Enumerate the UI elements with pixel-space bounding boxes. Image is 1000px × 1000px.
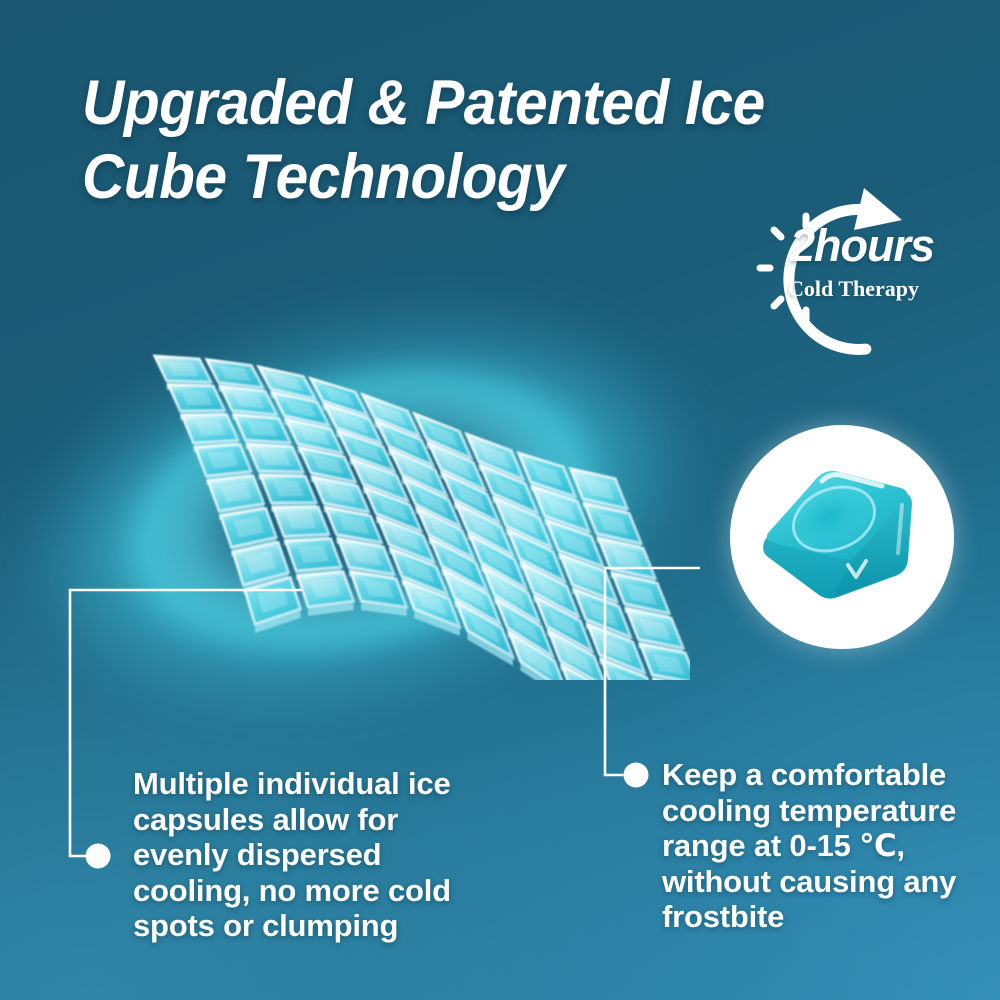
single-ice-capsule [730,425,954,649]
callout-text-left: Multiple individual ice capsules allow f… [133,766,478,944]
badge-subtitle: Cold Therapy [788,276,966,302]
callout-dot-right [624,763,649,788]
callout-text-right: Keep a comfortable cooling temperature r… [662,757,992,935]
detail-circle [730,425,954,649]
cold-therapy-badge: 2hours Cold Therapy [726,186,962,358]
badge-duration: 2hours [790,222,962,270]
product-infographic: Upgraded & Patented Ice Cube Technology … [0,0,1000,1000]
ice-cube-sheet [90,320,690,680]
clock-arrow-icon [726,186,962,358]
callout-dot-left [86,844,111,869]
